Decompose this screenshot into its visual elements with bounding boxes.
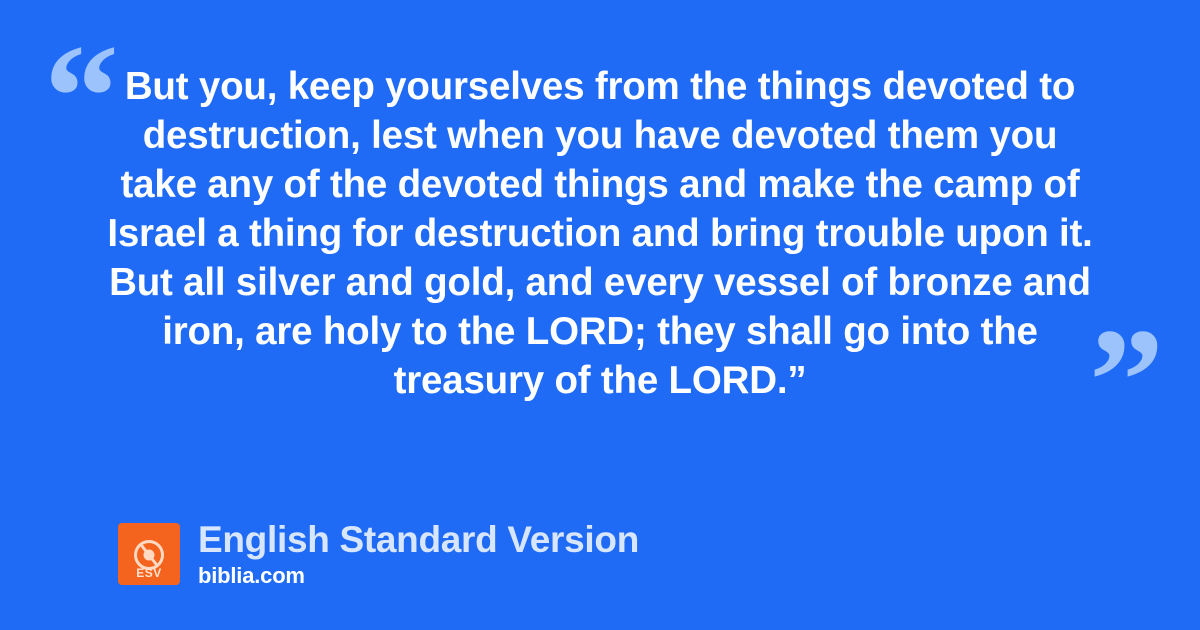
site-url: biblia.com	[198, 564, 639, 588]
verse-text: But you, keep yourselves from the things…	[100, 62, 1100, 406]
esv-logo: ESV	[118, 523, 180, 585]
verse-card: “ But you, keep yourselves from the thin…	[0, 0, 1200, 630]
attribution-text: English Standard Version biblia.com	[198, 521, 639, 588]
closing-quote-icon: ”	[1089, 306, 1160, 456]
bible-version-name: English Standard Version	[198, 521, 639, 560]
esv-logo-label: ESV	[118, 566, 180, 580]
attribution-footer: ESV English Standard Version biblia.com	[118, 521, 639, 588]
